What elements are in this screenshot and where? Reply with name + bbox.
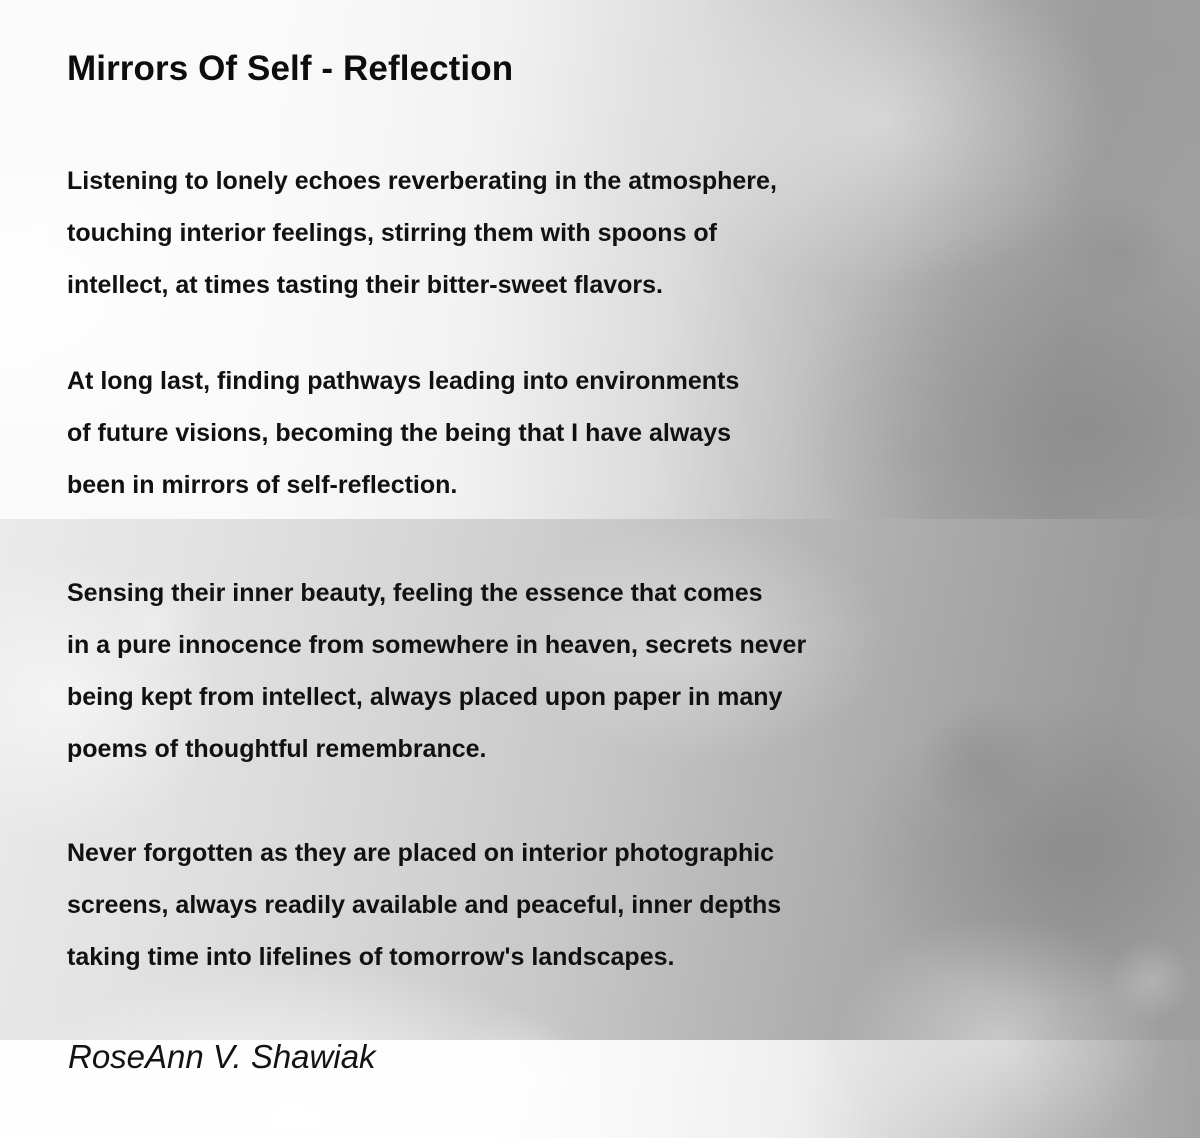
poem-stanza-2: At long last, finding pathways leading i… <box>67 355 739 511</box>
poem-content: Mirrors Of Self - Reflection Listening t… <box>0 0 1200 1138</box>
poem-line: screens, always readily available and pe… <box>67 879 781 931</box>
poem-stanza-3: Sensing their inner beauty, feeling the … <box>67 567 806 775</box>
poem-line: Sensing their inner beauty, feeling the … <box>67 567 806 619</box>
poem-line: taking time into lifelines of tomorrow's… <box>67 931 781 983</box>
poem-line: intellect, at times tasting their bitter… <box>67 259 777 311</box>
poem-stanza-4: Never forgotten as they are placed on in… <box>67 827 781 983</box>
poem-line: poems of thoughtful remembrance. <box>67 723 806 775</box>
poem-line: of future visions, becoming the being th… <box>67 407 739 459</box>
poem-line: in a pure innocence from somewhere in he… <box>67 619 806 671</box>
poem-line: Never forgotten as they are placed on in… <box>67 827 781 879</box>
poem-stanza-1: Listening to lonely echoes reverberating… <box>67 155 777 311</box>
poem-line: being kept from intellect, always placed… <box>67 671 806 723</box>
poem-line: been in mirrors of self-reflection. <box>67 459 739 511</box>
poem-author: RoseAnn V. Shawiak <box>68 1038 376 1076</box>
poem-line: At long last, finding pathways leading i… <box>67 355 739 407</box>
poem-line: Listening to lonely echoes reverberating… <box>67 155 777 207</box>
poem-title: Mirrors Of Self - Reflection <box>67 49 513 89</box>
poem-image-card: Mirrors Of Self - Reflection Listening t… <box>0 0 1200 1138</box>
poem-line: touching interior feelings, stirring the… <box>67 207 777 259</box>
